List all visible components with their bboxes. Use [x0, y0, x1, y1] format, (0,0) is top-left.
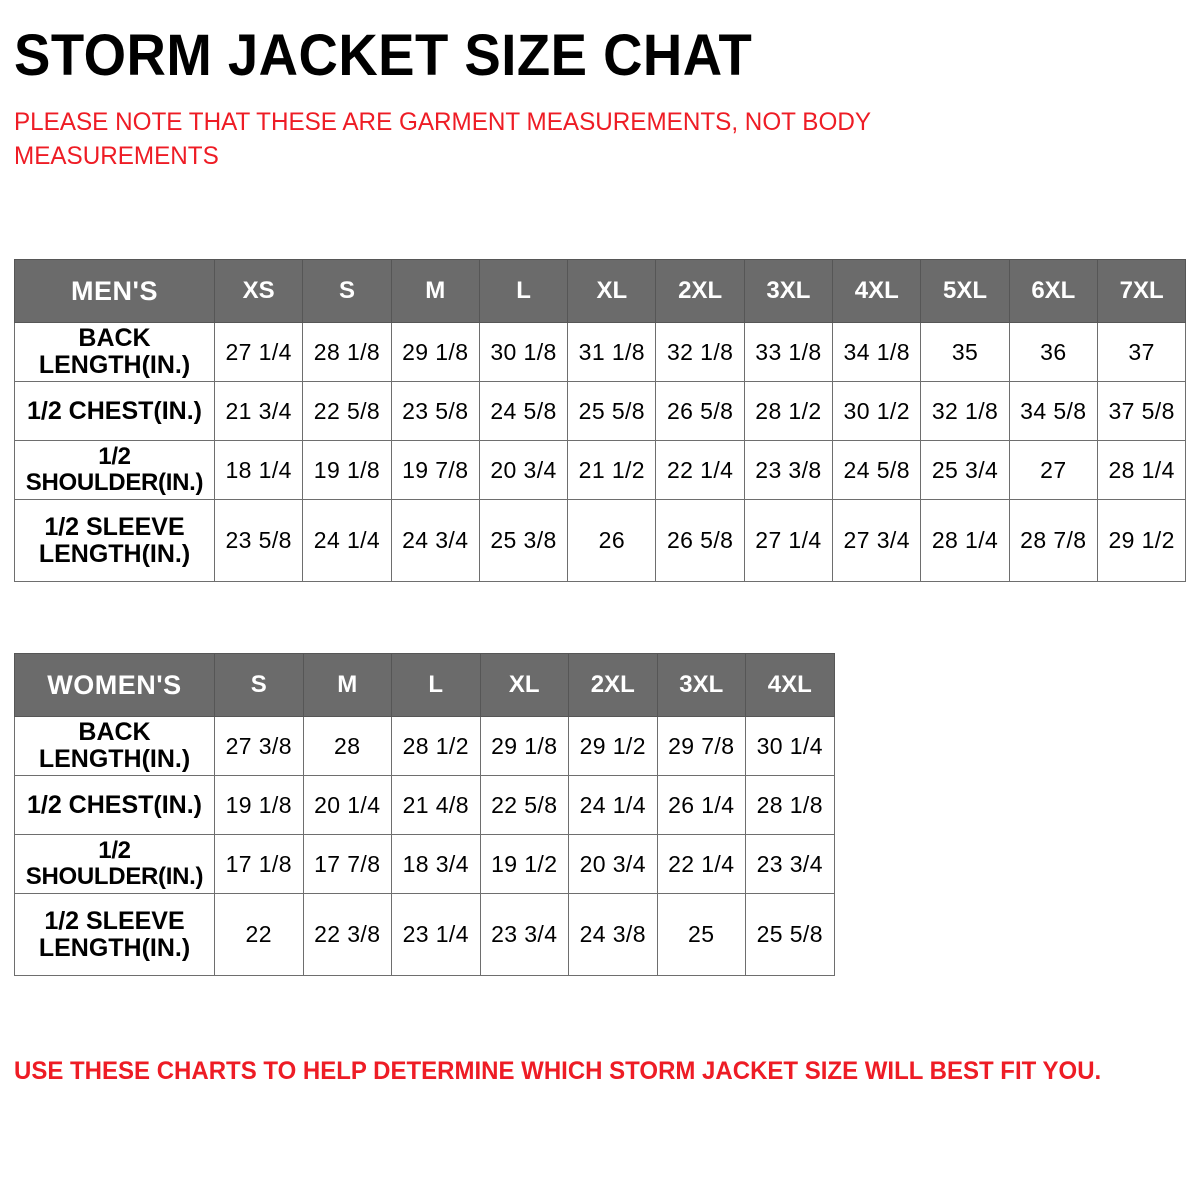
womens-size-header-l: L: [392, 654, 481, 717]
mens-measurement-cell: 21 3/4: [215, 382, 303, 441]
womens-measurement-cell: 30 1/4: [746, 717, 835, 776]
mens-measurement-cell: 22 5/8: [303, 382, 391, 441]
womens-measurement-cell: 21 4/8: [392, 776, 481, 835]
mens-measurement-cell: 26 5/8: [656, 382, 744, 441]
table-row: 1/2 SHOULDER(IN.)18 1/419 1/819 7/820 3/…: [15, 441, 1186, 500]
mens-measurement-cell: 32 1/8: [921, 382, 1009, 441]
table-row: BACK LENGTH(IN.)27 1/428 1/829 1/830 1/8…: [15, 323, 1186, 382]
mens-corner-label: MEN'S: [15, 260, 215, 323]
mens-measurement-cell: 26: [568, 500, 656, 582]
womens-measurement-cell: 28 1/2: [392, 717, 481, 776]
womens-row-label: 1/2 CHEST(IN.): [15, 776, 215, 835]
mens-measurement-cell: 21 1/2: [568, 441, 656, 500]
womens-size-table: WOMEN'S SMLXL2XL3XL4XL BACK LENGTH(IN.)2…: [14, 653, 835, 976]
womens-measurement-cell: 22 5/8: [480, 776, 569, 835]
womens-measurement-cell: 22: [215, 894, 304, 976]
mens-measurement-cell: 29 1/8: [391, 323, 479, 382]
table-row: 1/2 SHOULDER(IN.)17 1/817 7/818 3/419 1/…: [15, 835, 835, 894]
womens-measurement-cell: 23 3/4: [746, 835, 835, 894]
mens-measurement-cell: 18 1/4: [215, 441, 303, 500]
mens-measurement-cell: 28 7/8: [1009, 500, 1097, 582]
womens-measurement-cell: 28 1/8: [746, 776, 835, 835]
mens-measurement-cell: 36: [1009, 323, 1097, 382]
mens-measurement-cell: 35: [921, 323, 1009, 382]
womens-measurement-cell: 19 1/2: [480, 835, 569, 894]
mens-size-header-2xl: 2XL: [656, 260, 744, 323]
mens-size-header-l: L: [479, 260, 567, 323]
womens-measurement-cell: 20 1/4: [303, 776, 392, 835]
mens-measurement-cell: 30 1/8: [479, 323, 567, 382]
mens-measurement-cell: 19 7/8: [391, 441, 479, 500]
garment-measurement-note: PLEASE NOTE THAT THESE ARE GARMENT MEASU…: [14, 87, 945, 173]
womens-measurement-cell: 28: [303, 717, 392, 776]
mens-size-header-6xl: 6XL: [1009, 260, 1097, 323]
mens-measurement-cell: 27 1/4: [215, 323, 303, 382]
mens-measurement-cell: 30 1/2: [833, 382, 921, 441]
womens-row-label: 1/2 SLEEVE LENGTH(IN.): [15, 894, 215, 976]
womens-measurement-cell: 29 7/8: [657, 717, 746, 776]
womens-measurement-cell: 25 5/8: [746, 894, 835, 976]
womens-corner-label: WOMEN'S: [15, 654, 215, 717]
womens-size-table-container: WOMEN'S SMLXL2XL3XL4XL BACK LENGTH(IN.)2…: [14, 653, 835, 976]
table-row: BACK LENGTH(IN.)27 3/82828 1/229 1/829 1…: [15, 717, 835, 776]
mens-measurement-cell: 37: [1097, 323, 1185, 382]
womens-table-header: WOMEN'S SMLXL2XL3XL4XL: [15, 654, 835, 717]
table-row: 1/2 CHEST(IN.)21 3/422 5/823 5/824 5/825…: [15, 382, 1186, 441]
mens-measurement-cell: 28 1/2: [744, 382, 832, 441]
mens-measurement-cell: 28 1/4: [1097, 441, 1185, 500]
womens-measurement-cell: 23 3/4: [480, 894, 569, 976]
mens-size-table: MEN'S XSSMLXL2XL3XL4XL5XL6XL7XL BACK LEN…: [14, 259, 1186, 582]
mens-measurement-cell: 37 5/8: [1097, 382, 1185, 441]
mens-measurement-cell: 24 5/8: [479, 382, 567, 441]
womens-size-header-xl: XL: [480, 654, 569, 717]
mens-measurement-cell: 26 5/8: [656, 500, 744, 582]
mens-measurement-cell: 31 1/8: [568, 323, 656, 382]
mens-row-label: 1/2 SLEEVE LENGTH(IN.): [15, 500, 215, 582]
mens-measurement-cell: 24 3/4: [391, 500, 479, 582]
womens-size-header-4xl: 4XL: [746, 654, 835, 717]
womens-size-header-m: M: [303, 654, 392, 717]
mens-header-row: MEN'S XSSMLXL2XL3XL4XL5XL6XL7XL: [15, 260, 1186, 323]
mens-measurement-cell: 23 5/8: [215, 500, 303, 582]
mens-measurement-cell: 29 1/2: [1097, 500, 1185, 582]
womens-size-header-2xl: 2XL: [569, 654, 658, 717]
womens-header-row: WOMEN'S SMLXL2XL3XL4XL: [15, 654, 835, 717]
mens-measurement-cell: 24 5/8: [833, 441, 921, 500]
mens-measurement-cell: 25 5/8: [568, 382, 656, 441]
womens-size-header-s: S: [215, 654, 304, 717]
mens-measurement-cell: 28 1/4: [921, 500, 1009, 582]
womens-size-header-3xl: 3XL: [657, 654, 746, 717]
page-title: STORM JACKET SIZE CHAT: [14, 0, 1116, 87]
mens-row-label: 1/2 SHOULDER(IN.): [15, 441, 215, 500]
size-chart-page: STORM JACKET SIZE CHAT PLEASE NOTE THAT …: [0, 0, 1200, 1200]
womens-measurement-cell: 19 1/8: [215, 776, 304, 835]
womens-measurement-cell: 18 3/4: [392, 835, 481, 894]
womens-measurement-cell: 24 1/4: [569, 776, 658, 835]
womens-measurement-cell: 29 1/8: [480, 717, 569, 776]
table-row: 1/2 SLEEVE LENGTH(IN.)23 5/824 1/424 3/4…: [15, 500, 1186, 582]
table-row: 1/2 SLEEVE LENGTH(IN.)2222 3/823 1/423 3…: [15, 894, 835, 976]
womens-measurement-cell: 17 7/8: [303, 835, 392, 894]
mens-measurement-cell: 20 3/4: [479, 441, 567, 500]
mens-table-header: MEN'S XSSMLXL2XL3XL4XL5XL6XL7XL: [15, 260, 1186, 323]
mens-size-header-xl: XL: [568, 260, 656, 323]
fit-guidance-note: USE THESE CHARTS TO HELP DETERMINE WHICH…: [14, 1056, 1101, 1086]
mens-measurement-cell: 34 1/8: [833, 323, 921, 382]
womens-measurement-cell: 20 3/4: [569, 835, 658, 894]
table-row: 1/2 CHEST(IN.)19 1/820 1/421 4/822 5/824…: [15, 776, 835, 835]
mens-measurement-cell: 22 1/4: [656, 441, 744, 500]
womens-measurement-cell: 17 1/8: [215, 835, 304, 894]
mens-measurement-cell: 23 5/8: [391, 382, 479, 441]
mens-measurement-cell: 23 3/8: [744, 441, 832, 500]
womens-measurement-cell: 26 1/4: [657, 776, 746, 835]
mens-size-header-s: S: [303, 260, 391, 323]
mens-size-header-4xl: 4XL: [833, 260, 921, 323]
mens-measurement-cell: 25 3/4: [921, 441, 1009, 500]
mens-measurement-cell: 34 5/8: [1009, 382, 1097, 441]
womens-measurement-cell: 29 1/2: [569, 717, 658, 776]
womens-measurement-cell: 23 1/4: [392, 894, 481, 976]
mens-size-table-container: MEN'S XSSMLXL2XL3XL4XL5XL6XL7XL BACK LEN…: [14, 259, 1186, 582]
mens-measurement-cell: 27 3/4: [833, 500, 921, 582]
mens-size-header-m: M: [391, 260, 479, 323]
mens-size-header-xs: XS: [215, 260, 303, 323]
mens-measurement-cell: 24 1/4: [303, 500, 391, 582]
mens-size-header-7xl: 7XL: [1097, 260, 1185, 323]
mens-measurement-cell: 33 1/8: [744, 323, 832, 382]
mens-measurement-cell: 32 1/8: [656, 323, 744, 382]
mens-table-body: BACK LENGTH(IN.)27 1/428 1/829 1/830 1/8…: [15, 323, 1186, 582]
womens-measurement-cell: 22 3/8: [303, 894, 392, 976]
mens-size-header-3xl: 3XL: [744, 260, 832, 323]
womens-measurement-cell: 27 3/8: [215, 717, 304, 776]
mens-measurement-cell: 27: [1009, 441, 1097, 500]
mens-row-label: BACK LENGTH(IN.): [15, 323, 215, 382]
womens-table-body: BACK LENGTH(IN.)27 3/82828 1/229 1/829 1…: [15, 717, 835, 976]
mens-measurement-cell: 27 1/4: [744, 500, 832, 582]
mens-measurement-cell: 19 1/8: [303, 441, 391, 500]
mens-size-header-5xl: 5XL: [921, 260, 1009, 323]
womens-row-label: 1/2 SHOULDER(IN.): [15, 835, 215, 894]
womens-measurement-cell: 22 1/4: [657, 835, 746, 894]
mens-measurement-cell: 28 1/8: [303, 323, 391, 382]
womens-measurement-cell: 24 3/8: [569, 894, 658, 976]
womens-measurement-cell: 25: [657, 894, 746, 976]
mens-row-label: 1/2 CHEST(IN.): [15, 382, 215, 441]
womens-row-label: BACK LENGTH(IN.): [15, 717, 215, 776]
mens-measurement-cell: 25 3/8: [479, 500, 567, 582]
